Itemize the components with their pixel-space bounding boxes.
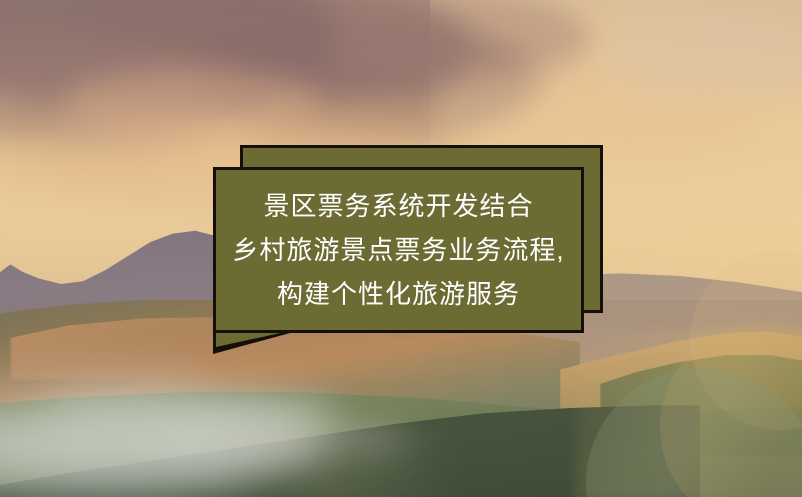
screenshot-canvas: 景区票务系统开发结合 乡村旅游景点票务业务流程, 构建个性化旅游服务 xyxy=(0,0,802,497)
callout-line-3: 构建个性化旅游服务 xyxy=(277,272,520,316)
lens-flare-streak-secondary xyxy=(230,425,460,497)
speech-bubble: 景区票务系统开发结合 乡村旅游景点票务业务流程, 构建个性化旅游服务 xyxy=(213,167,584,333)
callout-line-1: 景区票务系统开发结合 xyxy=(263,184,533,228)
callout-line-2: 乡村旅游景点票务业务流程, xyxy=(232,228,564,272)
